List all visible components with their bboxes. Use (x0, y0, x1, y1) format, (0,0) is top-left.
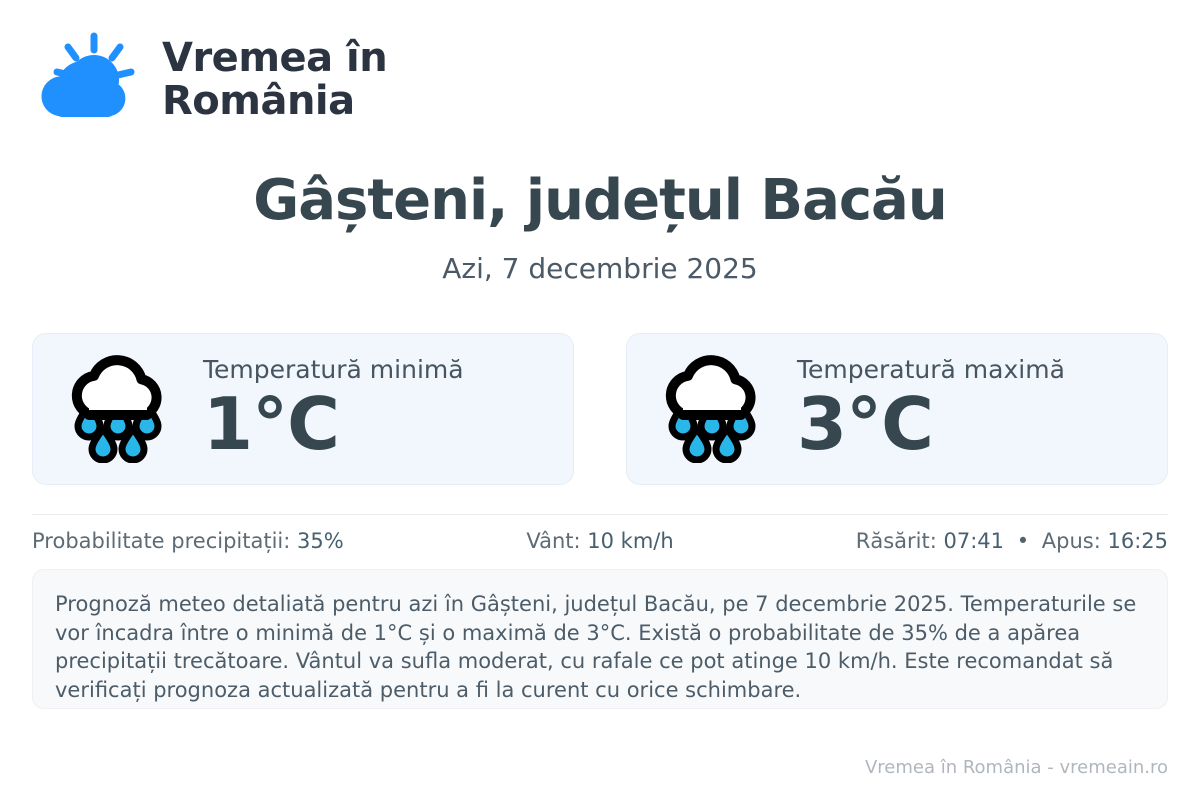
min-temperature-body: Temperatură minimă 1°C (203, 355, 464, 463)
site-header: Vremea în România (32, 0, 1168, 112)
sunrise-label: Răsărit: (856, 529, 937, 553)
sunset-value: 16:25 (1107, 529, 1168, 553)
sun-behind-cloud-icon (32, 30, 140, 130)
footer-credit: Vremea în România - vremeain.ro (865, 757, 1168, 778)
max-temperature-body: Temperatură maximă 3°C (797, 355, 1065, 463)
page-subtitle: Azi, 7 decembrie 2025 (32, 252, 1168, 286)
wind-value: 10 km/h (587, 529, 673, 553)
min-temperature-card: Temperatură minimă 1°C (32, 333, 574, 485)
title-block: Gâșteni, județul Bacău Azi, 7 decembrie … (32, 170, 1168, 285)
weather-stats-row: Probabilitate precipitații: 35% Vânt: 10… (32, 515, 1168, 567)
sunset-label: Apus: (1042, 529, 1101, 553)
min-temperature-label: Temperatură minimă (203, 355, 464, 385)
weather-page: Vremea în România Gâșteni, județul Bacău… (0, 0, 1200, 800)
precipitation-value: 35% (297, 529, 344, 553)
precipitation-stat: Probabilitate precipitații: 35% (32, 529, 411, 553)
max-temperature-card: Temperatură maximă 3°C (626, 333, 1168, 485)
temperature-cards: Temperatură minimă 1°C (32, 333, 1168, 485)
rain-cloud-icon (653, 351, 771, 467)
rain-cloud-icon (59, 351, 177, 467)
min-temperature-value: 1°C (203, 387, 464, 463)
forecast-description: Prognoză meteo detaliată pentru azi în G… (32, 569, 1168, 709)
wind-stat: Vânt: 10 km/h (411, 529, 790, 553)
sun-times-stat: Răsărit: 07:41 • Apus: 16:25 (789, 529, 1168, 553)
page-title: Gâșteni, județul Bacău (32, 170, 1168, 232)
sunrise-value: 07:41 (943, 529, 1004, 553)
max-temperature-value: 3°C (797, 387, 1065, 463)
max-temperature-label: Temperatură maximă (797, 355, 1065, 385)
sun-times-separator: • (1011, 529, 1035, 553)
brand-name: Vremea în România (162, 37, 387, 123)
precipitation-label: Probabilitate precipitații: (32, 529, 290, 553)
wind-label: Vânt: (526, 529, 580, 553)
